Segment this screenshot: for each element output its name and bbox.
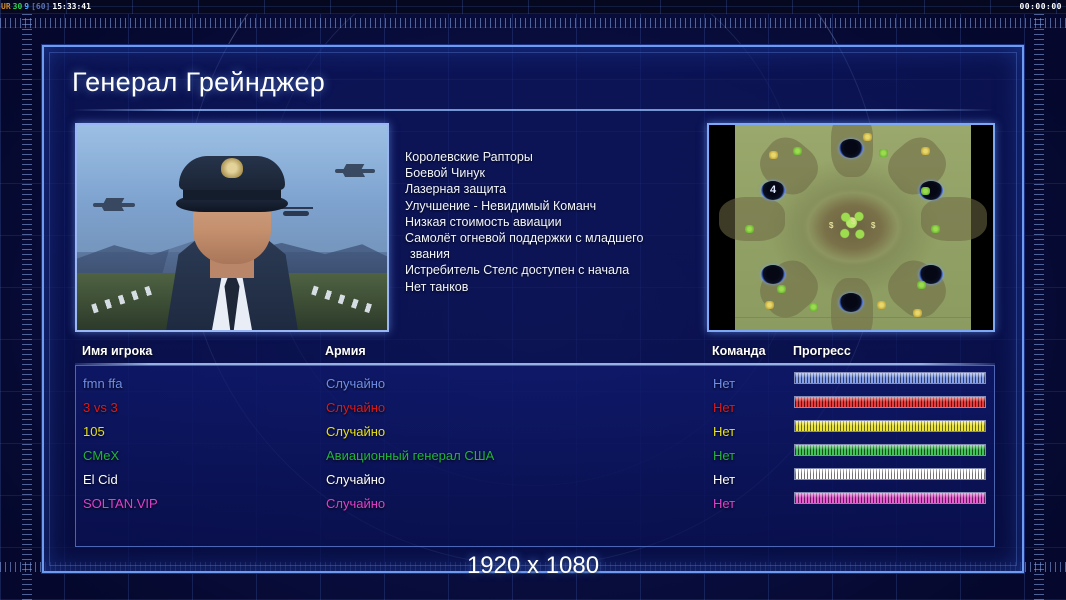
column-header-army: Армия <box>325 344 366 358</box>
ability-line: Улучшение - Невидимый Команч <box>405 198 705 214</box>
title-divider <box>72 109 994 111</box>
player-team[interactable]: Нет <box>713 492 735 516</box>
minimap-lane <box>751 252 826 326</box>
ability-line: Истребитель Стелс доступен с начала <box>405 262 705 278</box>
player-progress-bar <box>794 420 986 432</box>
ability-line: Королевские Рапторы <box>405 149 705 165</box>
topbar-grid-decor <box>0 0 1066 14</box>
table-row[interactable]: 105СлучайноНет <box>76 420 994 444</box>
minimap-resource-node <box>921 187 930 195</box>
page-title: Генерал Грейнджер <box>72 59 994 105</box>
general-info-row: Королевские Рапторы Боевой Чинук Лазерна… <box>75 123 995 332</box>
table-row[interactable]: fmn ffaСлучайноНет <box>76 372 994 396</box>
player-name: El Cid <box>83 468 118 492</box>
minimap-scanline-decor <box>735 317 971 318</box>
minimap-cash-marker: $ <box>829 221 833 230</box>
minimap-resource-node <box>745 225 754 233</box>
general-abilities-list: Королевские Рапторы Боевой Чинук Лазерна… <box>405 149 705 295</box>
player-army[interactable]: Случайно <box>326 492 385 516</box>
column-header-team: Команда <box>712 344 766 358</box>
minimap-lane <box>879 129 954 203</box>
player-table-header: Имя игрока Армия Команда Прогресс <box>75 344 995 364</box>
player-progress-bar <box>794 372 986 384</box>
player-progress-bar <box>794 492 986 504</box>
table-row[interactable]: 3 vs 3СлучайноНет <box>76 396 994 420</box>
player-rows-container: fmn ffaСлучайноНет3 vs 3СлучайноНет105Сл… <box>76 372 994 516</box>
resolution-label: 1920 x 1080 <box>0 552 1066 580</box>
player-team[interactable]: Нет <box>713 420 735 444</box>
ability-line: Боевой Чинук <box>405 165 705 181</box>
player-team[interactable]: Нет <box>713 396 735 420</box>
stat-b-value: 9 <box>24 2 29 11</box>
ability-line-continuation: звания <box>405 246 705 262</box>
title-zone: Генерал Грейнджер <box>72 59 994 107</box>
minimap-resource-node <box>765 301 774 309</box>
table-row[interactable]: El CidСлучайноНет <box>76 468 994 492</box>
general-portrait-image <box>77 125 387 330</box>
background-field: Генерал Грейнджер <box>0 14 1066 600</box>
stat-ur-label: UR <box>1 2 11 11</box>
top-status-bar: UR309[60]15:33:41 00:00:00 <box>0 0 1066 14</box>
minimap-start-position-4[interactable]: 4 <box>761 181 785 200</box>
stat-c-value: [60] <box>31 2 50 11</box>
officer-cap-insignia-icon <box>221 158 243 178</box>
player-army[interactable]: Случайно <box>326 372 385 396</box>
aircraft-icon-right <box>335 169 375 173</box>
player-team[interactable]: Нет <box>713 444 735 468</box>
minimap-start-position[interactable] <box>761 265 785 284</box>
general-portrait-frame <box>75 123 389 332</box>
minimap-center-resources <box>833 209 875 243</box>
table-row[interactable]: SOLTAN.VIPСлучайноНет <box>76 492 994 516</box>
minimap-lane <box>921 197 987 241</box>
minimap-resource-node <box>877 301 886 309</box>
minimap-resource-node <box>777 285 786 293</box>
minimap-resource-node <box>809 303 818 311</box>
minimap-resource-node <box>769 151 778 159</box>
minimap-start-position[interactable] <box>839 139 863 158</box>
stat-a-value: 30 <box>13 2 23 11</box>
minimap-lane <box>719 197 785 241</box>
game-screen: UR309[60]15:33:41 00:00:00 Генерал Грейн… <box>0 0 1066 600</box>
column-header-name: Имя игрока <box>82 344 152 358</box>
player-name: 3 vs 3 <box>83 396 118 420</box>
main-panel: Генерал Грейнджер <box>42 45 1024 573</box>
minimap-start-position[interactable] <box>839 293 863 312</box>
player-progress-bar <box>794 444 986 456</box>
player-name: fmn ffa <box>83 372 123 396</box>
helicopter-icon <box>283 211 309 216</box>
player-army[interactable]: Случайно <box>326 468 385 492</box>
player-team[interactable]: Нет <box>713 372 735 396</box>
frame-ticks-top <box>0 18 1066 28</box>
minimap-resource-node <box>931 225 940 233</box>
ability-line: Нет танков <box>405 279 705 295</box>
player-army[interactable]: Авиационный генерал США <box>326 444 494 468</box>
minimap-resource-node <box>921 147 930 155</box>
minimap-resource-node <box>917 281 926 289</box>
player-progress-bar <box>794 468 986 480</box>
frame-ticks-left <box>22 14 32 600</box>
minimap-resource-node <box>879 149 888 157</box>
player-team[interactable]: Нет <box>713 468 735 492</box>
player-name: CMeX <box>83 444 119 468</box>
player-progress-bar <box>794 396 986 408</box>
minimap-resource-node <box>793 147 802 155</box>
minimap-resource-node <box>863 133 872 141</box>
ability-line: Самолёт огневой поддержки с младшего <box>405 230 705 246</box>
minimap-frame[interactable]: 4 <box>707 123 995 332</box>
ability-line: Лазерная защита <box>405 181 705 197</box>
column-header-progress: Прогресс <box>793 344 851 358</box>
aircraft-icon-left <box>93 203 135 207</box>
system-clock: 15:33:41 <box>52 2 91 11</box>
network-stats: UR309[60]15:33:41 <box>1 0 93 14</box>
table-row[interactable]: CMeXАвиационный генерал СШАНет <box>76 444 994 468</box>
ability-line: Низкая стоимость авиации <box>405 214 705 230</box>
player-army[interactable]: Случайно <box>326 420 385 444</box>
match-timer: 00:00:00 <box>1019 0 1062 14</box>
player-name: 105 <box>83 420 105 444</box>
minimap-cash-marker: $ <box>871 221 875 230</box>
player-name: SOLTAN.VIP <box>83 492 158 516</box>
player-army[interactable]: Случайно <box>326 396 385 420</box>
minimap-cash-marker: $ <box>851 217 855 226</box>
frame-ticks-right <box>1034 14 1044 600</box>
minimap-resource-node <box>913 309 922 317</box>
minimap-image: 4 <box>735 125 971 330</box>
player-table: fmn ffaСлучайноНет3 vs 3СлучайноНет105Сл… <box>75 365 995 547</box>
